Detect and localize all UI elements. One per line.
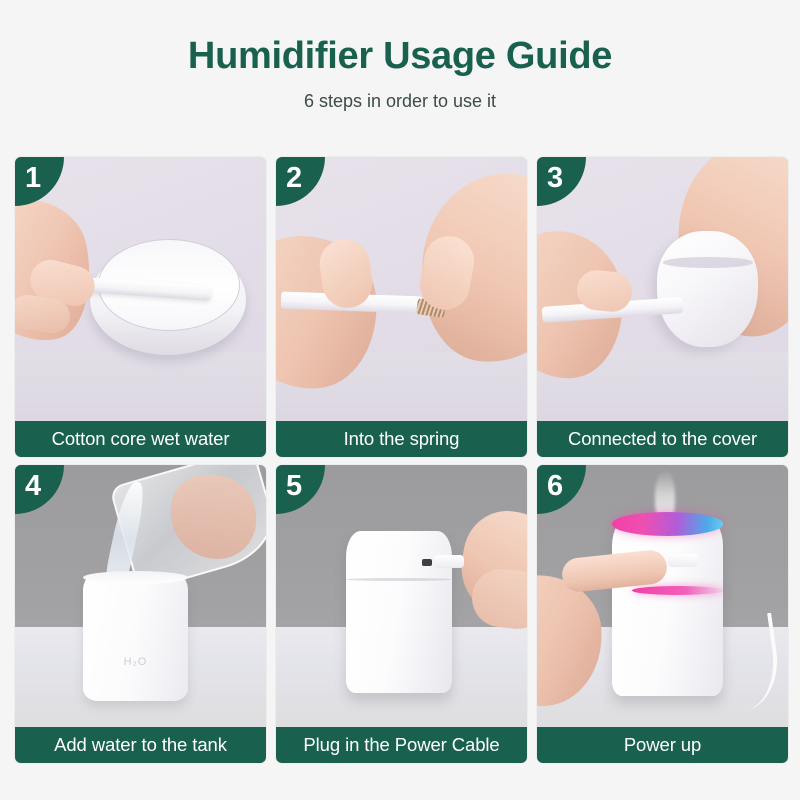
page-subtitle: 6 steps in order to use it [0, 92, 800, 112]
tank-label: H₂O [83, 656, 188, 668]
usb-port [422, 559, 432, 565]
step-image-6 [537, 465, 788, 727]
step-caption-1: Cotton core wet water [15, 421, 266, 457]
step-card-6[interactable]: 6 Power up [537, 465, 788, 763]
step-card-5[interactable]: 5 Plug in the Power Cable [276, 465, 527, 763]
step-card-4[interactable]: H₂O 4 Add water to the tank [15, 465, 266, 763]
header: Humidifier Usage Guide 6 steps in order … [0, 0, 800, 112]
step-image-1 [15, 157, 266, 421]
page-title: Humidifier Usage Guide [0, 36, 800, 78]
step-card-3[interactable]: 3 Connected to the cover [537, 157, 788, 457]
step-caption-6: Power up [537, 727, 788, 763]
humidifier-cover [657, 231, 757, 347]
step-card-2[interactable]: 2 Into the spring [276, 157, 527, 457]
power-cable-plug [434, 555, 464, 568]
step-image-2 [276, 157, 527, 421]
led-light-ring [612, 512, 722, 536]
step-image-3 [537, 157, 788, 421]
step-caption-2: Into the spring [276, 421, 527, 457]
water-tank [83, 575, 188, 701]
cover-rim [663, 257, 753, 268]
step-caption-5: Plug in the Power Cable [276, 727, 527, 763]
steps-grid: 1 Cotton core wet water 2 Into the sprin… [15, 157, 785, 763]
step-caption-3: Connected to the cover [537, 421, 788, 457]
step-card-1[interactable]: 1 Cotton core wet water [15, 157, 266, 457]
led-glow-band [632, 586, 722, 595]
table-surface [15, 352, 266, 421]
humidifier-body [612, 517, 722, 695]
power-button [668, 554, 698, 567]
infographic-page: Humidifier Usage Guide 6 steps in order … [0, 0, 800, 800]
body-seam [346, 578, 451, 581]
step-image-5 [276, 465, 527, 727]
step-image-4: H₂O [15, 465, 266, 727]
step-caption-4: Add water to the tank [15, 727, 266, 763]
